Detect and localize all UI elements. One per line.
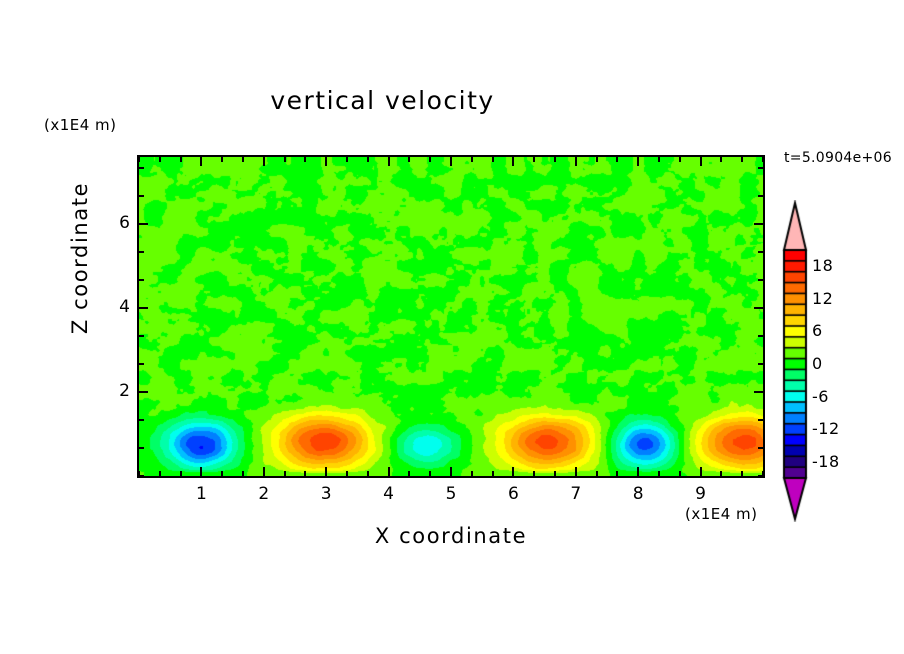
x-axis-major-tick-top (388, 157, 390, 166)
x-axis-minor-tick (367, 471, 369, 476)
colorbar-tick-label: -18 (812, 452, 840, 471)
x-axis-minor-tick-top (720, 157, 722, 162)
x-axis-minor-tick (180, 471, 182, 476)
x-axis-minor-tick-top (429, 157, 431, 162)
x-axis-major-tick (512, 467, 514, 476)
x-axis-minor-tick-top (304, 157, 306, 162)
x-axis-major-tick-top (700, 157, 702, 166)
timestamp-annotation: t=5.0904e+06 (784, 150, 892, 166)
x-axis-minor-tick (242, 471, 244, 476)
y-axis-major-tick-right (754, 223, 763, 225)
y-axis-minor-tick (139, 475, 144, 477)
y-axis-minor-tick-right (758, 419, 763, 421)
x-axis-minor-tick (284, 471, 286, 476)
x-axis-minor-tick (221, 471, 223, 476)
y-axis-minor-tick (139, 251, 144, 253)
x-axis-minor-tick-top (554, 157, 556, 162)
y-axis-major-tick (139, 391, 148, 393)
x-axis-minor-tick-top (138, 157, 140, 162)
x-axis-minor-tick (492, 471, 494, 476)
x-axis-title: X coordinate (137, 524, 765, 548)
x-axis-tick-label: 2 (244, 484, 284, 504)
y-axis-major-tick (139, 307, 148, 309)
x-axis-major-tick (325, 467, 327, 476)
x-axis-minor-tick (741, 471, 743, 476)
x-axis-minor-tick-top (221, 157, 223, 162)
contour-plot-area (137, 155, 765, 478)
x-axis-major-tick (637, 467, 639, 476)
x-axis-minor-tick-top (679, 157, 681, 162)
y-axis-minor-tick (139, 279, 144, 281)
x-axis-major-tick-top (512, 157, 514, 166)
colorbar-tick-label: -12 (812, 419, 840, 438)
x-axis-tick-label: 4 (369, 484, 409, 504)
y-axis-major-tick (139, 223, 148, 225)
x-axis-minor-tick-top (533, 157, 535, 162)
x-axis-tick-label: 5 (431, 484, 471, 504)
y-axis-minor-tick (139, 167, 144, 169)
x-axis-tick-label: 8 (618, 484, 658, 504)
y-axis-minor-tick-right (758, 363, 763, 365)
y-axis-minor-tick-right (758, 335, 763, 337)
x-axis-major-tick (388, 467, 390, 476)
x-axis-minor-tick-top (346, 157, 348, 162)
x-axis-minor-tick (304, 471, 306, 476)
y-axis-minor-tick (139, 447, 144, 449)
y-axis-minor-tick (139, 195, 144, 197)
x-axis-major-tick (450, 467, 452, 476)
x-axis-minor-tick (720, 471, 722, 476)
x-axis-major-tick-top (200, 157, 202, 166)
x-axis-tick-label: 7 (556, 484, 596, 504)
x-axis-minor-tick (408, 471, 410, 476)
y-axis-minor-tick (139, 419, 144, 421)
y-axis-tick-label: 2 (90, 381, 130, 401)
figure-canvas: vertical velocity (x1E4 m) (x1E4 m) X co… (0, 0, 904, 654)
colorbar-tick-label: 0 (812, 354, 823, 373)
velocity-field-heatmap (139, 157, 763, 476)
x-axis-major-tick-top (637, 157, 639, 166)
x-axis-major-tick (263, 467, 265, 476)
colorbar-tick-label: 12 (812, 289, 833, 308)
x-axis-minor-tick (616, 471, 618, 476)
x-axis-minor-tick-top (180, 157, 182, 162)
x-axis-major-tick-top (450, 157, 452, 166)
x-axis-minor-tick (346, 471, 348, 476)
y-axis-minor-tick-right (758, 475, 763, 477)
x-axis-major-tick (200, 467, 202, 476)
y-axis-major-tick-right (754, 391, 763, 393)
y-axis-minor-tick (139, 335, 144, 337)
x-axis-minor-tick (471, 471, 473, 476)
y-axis-minor-tick (139, 363, 144, 365)
x-axis-minor-tick-top (159, 157, 161, 162)
x-axis-minor-tick-top (284, 157, 286, 162)
y-axis-tick-label: 4 (90, 297, 130, 317)
y-axis-minor-tick-right (758, 447, 763, 449)
y-axis-tick-label: 6 (90, 213, 130, 233)
colorbar-tick-label: 6 (812, 321, 823, 340)
x-axis-minor-tick-top (616, 157, 618, 162)
y-axis-minor-tick-right (758, 251, 763, 253)
colorbar-tick-label: -6 (812, 387, 829, 406)
x-axis-minor-tick-top (471, 157, 473, 162)
x-axis-minor-tick-top (762, 157, 764, 162)
page-title: vertical velocity (0, 86, 765, 115)
x-axis-minor-tick-top (658, 157, 660, 162)
x-axis-minor-tick-top (242, 157, 244, 162)
x-axis-minor-tick (658, 471, 660, 476)
x-axis-minor-tick (679, 471, 681, 476)
x-axis-minor-tick-top (741, 157, 743, 162)
colorbar-tick-label: 18 (812, 256, 833, 275)
x-axis-minor-tick-top (596, 157, 598, 162)
y-axis-minor-tick-right (758, 167, 763, 169)
x-axis-tick-label: 9 (681, 484, 721, 504)
x-axis-minor-tick-top (367, 157, 369, 162)
y-axis-minor-tick-right (758, 195, 763, 197)
x-axis-major-tick-top (575, 157, 577, 166)
x-axis-minor-tick (429, 471, 431, 476)
x-axis-minor-tick (596, 471, 598, 476)
x-axis-major-tick-top (263, 157, 265, 166)
x-axis-tick-label: 6 (493, 484, 533, 504)
y-axis-major-tick-right (754, 307, 763, 309)
z-axis-title: Z coordinate (68, 158, 92, 358)
x-axis-major-tick-top (325, 157, 327, 166)
z-axis-unit-label: (x1E4 m) (44, 116, 117, 134)
x-axis-minor-tick-top (492, 157, 494, 162)
x-axis-tick-label: 1 (181, 484, 221, 504)
x-axis-tick-label: 3 (306, 484, 346, 504)
x-axis-minor-tick-top (408, 157, 410, 162)
x-axis-minor-tick (554, 471, 556, 476)
x-axis-major-tick (700, 467, 702, 476)
x-axis-minor-tick (533, 471, 535, 476)
x-axis-minor-tick (159, 471, 161, 476)
y-axis-minor-tick-right (758, 279, 763, 281)
x-axis-unit-label: (x1E4 m) (685, 505, 758, 523)
x-axis-major-tick (575, 467, 577, 476)
